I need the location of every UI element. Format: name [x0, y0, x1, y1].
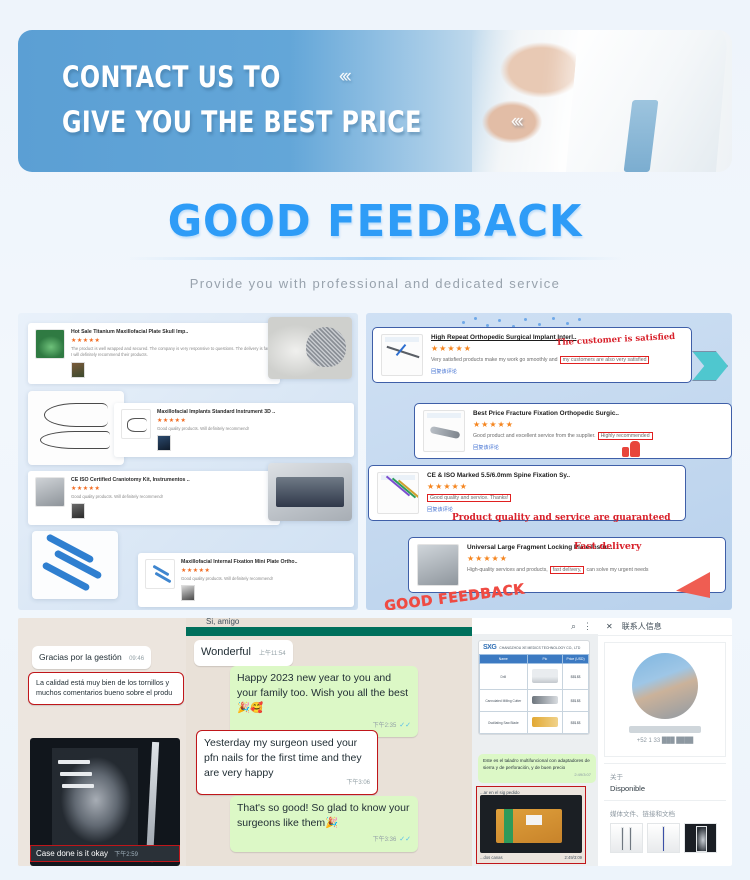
chat-message-text: Este es el taladro multifuncional con ad… [483, 758, 590, 770]
chevron-left-icon-2: ‹‹‹ [511, 111, 521, 133]
feedback-text: Very satisfied products make my work go … [431, 356, 683, 364]
product-image-cell [527, 664, 563, 690]
product-thumbnail [35, 329, 65, 359]
review-user-image[interactable] [71, 503, 85, 519]
product-image-cell [527, 712, 563, 734]
chat-message-time: 下午3:36 [373, 837, 397, 843]
catalog-table: Name Pic Price (USD) Drill $$$.$$ Cannul… [479, 654, 589, 734]
banner-line-2-text: GIVE YOU THE BEST PRICE [62, 105, 422, 139]
review-user-image[interactable] [71, 362, 85, 378]
product-name: Cannulated Milling Cutter [480, 690, 528, 712]
media-thumbnails [610, 823, 720, 853]
contact-media-section[interactable]: 媒体文件、链接和文档 [604, 800, 726, 860]
media-label: 媒体文件、链接和文档 [610, 808, 720, 818]
drill-icon [532, 669, 558, 683]
star-rating-icon: ★★★★★ [71, 337, 273, 344]
banner-line-2: GIVE YOU THE BEST PRICE ‹‹‹ [62, 105, 521, 139]
review-product-title: Maxillofacial Internal Fixation Mini Pla… [181, 559, 347, 565]
banner-text: CONTACT US TO ‹‹‹ GIVE YOU THE BEST PRIC… [62, 60, 521, 150]
chat-message-time: 09:46 [129, 656, 144, 662]
xray-caption-text: Case done is it okay [36, 849, 108, 858]
feedback-text-plain: High-quality services and products, [467, 567, 548, 573]
banner-line-1: CONTACT US TO ‹‹‹ [62, 60, 521, 94]
chevron-left-icon-1: ‹‹‹ [339, 66, 349, 88]
product-thumbnail [121, 409, 151, 439]
product-price: $$$.$$ [563, 712, 589, 734]
reply-link[interactable]: 回复该评论 [473, 444, 723, 451]
feedback-card[interactable]: Best Price Fracture Fixation Orthopedic … [414, 403, 732, 459]
star-rating-icon: ★★★★★ [473, 420, 723, 429]
screw-shape [62, 784, 94, 788]
annotation-quality-guaranteed: Product quality and service are guarante… [452, 513, 671, 523]
search-icon[interactable]: ⌕ [571, 621, 576, 632]
review-card[interactable]: Maxillofacial Internal Fixation Mini Pla… [138, 553, 354, 607]
review-user-image[interactable] [181, 585, 195, 601]
read-receipt-icon: ✓✓ [399, 836, 411, 843]
contact-phone: +52 1 33 ███ ████ [605, 738, 725, 744]
parcel-strap-shape [504, 809, 513, 843]
feedback-text: High-quality services and products, fast… [467, 566, 717, 574]
title-divider [125, 257, 625, 260]
page-title: GOOD FEEDBACK [19, 196, 732, 247]
chat-contact-name: Si, amigo [206, 618, 239, 626]
product-photo-forceps [28, 391, 124, 465]
product-name: Oscillating Saw Blade [480, 712, 528, 734]
screw-shape [60, 772, 92, 776]
feedback-highlight: Highly recommended [598, 432, 653, 440]
chat-pane-spanish: Gracias por la gestión 09:46 La calidad … [18, 618, 186, 866]
contact-info-header: ✕ 联系人信息 [598, 618, 732, 636]
thumbs-up-icon [622, 441, 640, 457]
parcel-label-shape [526, 815, 542, 825]
feedback-text-plain: Good product and excellent service from … [473, 433, 596, 439]
contact-name-redacted [629, 726, 701, 733]
catalog-toolbar: ⌕ ⋮ [472, 618, 598, 634]
parcel-photo [480, 795, 582, 853]
review-card[interactable]: CE ISO Certified Craniotomy Kit, Instrum… [28, 471, 280, 525]
media-thumbnail[interactable] [647, 823, 680, 853]
chat-message-time: 下午3:06 [346, 780, 370, 786]
product-thumbnail [423, 410, 465, 452]
annotation-fast-delivery: Fast delivery [574, 541, 641, 552]
chat-message-text: Wonderful [201, 646, 251, 658]
read-receipt-icon: ✓✓ [399, 722, 411, 729]
left-review-panel: Hot Sale Titanium Maxillofacial Plate Sk… [18, 313, 358, 610]
chat-pane-whatsapp: Si, amigo Wonderful 上午11:54 Happy 2023 n… [186, 618, 472, 866]
reply-link[interactable]: 回复该评论 [431, 368, 683, 375]
star-rating-icon: ★★★★★ [181, 567, 347, 574]
overflow-menu-icon[interactable]: ⋮ [583, 621, 592, 632]
feedback-product-title: CE & ISO Marked 5.5/6.0mm Spine Fixation… [427, 472, 677, 479]
whatsapp-header-bar [186, 627, 472, 636]
product-price: $$$.$$ [563, 664, 589, 690]
column-header: Name [480, 655, 528, 664]
star-rating-icon: ★★★★★ [467, 554, 717, 563]
product-image-cell [527, 690, 563, 712]
about-label: 关于 [610, 771, 720, 781]
reviews-section: Hot Sale Titanium Maxillofacial Plate Sk… [18, 313, 732, 610]
section-heading: GOOD FEEDBACK Provide you with professio… [0, 196, 750, 291]
chat-message-text: La calidad está muy bien de los tornillo… [36, 678, 172, 697]
product-price: $$$.$$ [563, 690, 589, 712]
product-photo-craniotomy-kit [268, 463, 352, 521]
column-header: Pic [527, 655, 563, 664]
feedback-highlight: my customers are also very satisfied [560, 356, 650, 364]
about-value: Disponible [610, 784, 720, 793]
feedback-text: Good quality and service. Thanks! [427, 494, 677, 502]
product-thumbnail [377, 472, 419, 514]
product-photo-skull-mesh [268, 317, 352, 379]
chat-message: Gracias por la gestión 09:46 [32, 646, 151, 669]
review-text: Good quality products. Will definitely r… [181, 576, 347, 582]
chat-pane-catalog: ⌕ ⋮ SXG CHANGZHOU XE MEDICS TECHNOLOGY C… [472, 618, 598, 866]
product-name: Drill [480, 664, 528, 690]
chat-message-text: Gracias por la gestión [39, 652, 122, 662]
brand-logo: SXG [483, 644, 496, 651]
chat-screenshots-section: Gracias por la gestión 09:46 La calidad … [18, 618, 732, 866]
product-thumbnail [381, 334, 423, 376]
chat-message: Este es el taladro multifuncional con ad… [478, 754, 596, 783]
chat-message: That's so good! So glad to know your sur… [230, 796, 418, 852]
contact-info-pane: ✕ 联系人信息 +52 1 33 ███ ████ 关于 Disponible … [598, 618, 732, 866]
feedback-highlight: fast delivery, [550, 566, 585, 574]
review-product-title: Hot Sale Titanium Maxillofacial Plate Sk… [71, 329, 273, 335]
review-card[interactable]: Maxillofacial Implants Standard Instrume… [114, 403, 354, 457]
chat-message: Yesterday my surgeon used your pfn nails… [196, 730, 378, 795]
close-icon[interactable]: ✕ [606, 622, 613, 631]
feedback-text-plain: Very satisfied products make my work go … [431, 357, 558, 363]
saw-blade-icon [532, 717, 558, 727]
feedback-text: Good product and excellent service from … [473, 432, 723, 440]
feedback-page: CONTACT US TO ‹‹‹ GIVE YOU THE BEST PRIC… [0, 0, 750, 880]
banner-line-1-text: CONTACT US TO [62, 60, 281, 94]
reply-link[interactable]: 回复该评论 [427, 506, 677, 513]
chat-message-text: That's so good! So glad to know your sur… [237, 802, 409, 829]
chat-message-time: 下午2:35 [373, 723, 397, 729]
star-rating-icon: ★★★★★ [71, 485, 273, 492]
product-photo-mini-plates [32, 531, 118, 599]
feedback-text-after: can solve my urgent needs [586, 567, 648, 573]
chat-message-time: 上午11:54 [259, 651, 286, 657]
product-thumbnail [145, 559, 175, 589]
milling-cutter-icon [532, 696, 558, 704]
catalog-brand: SXG CHANGZHOU XE MEDICS TECHNOLOGY CO., … [479, 641, 589, 654]
xray-caption: Case done is it okay 下午2:59 [30, 845, 180, 862]
table-row: Drill $$$.$$ [480, 664, 589, 690]
review-product-title: CE ISO Certified Craniotomy Kit, Instrum… [71, 477, 273, 483]
review-card[interactable]: Hot Sale Titanium Maxillofacial Plate Sk… [28, 323, 280, 384]
xray-caption-time: 下午2:59 [114, 852, 138, 858]
chat-message: Happy 2023 new year to you and your fami… [230, 666, 418, 737]
media-thumbnail[interactable] [610, 823, 643, 853]
review-text: Good quality products. Will definitely r… [157, 426, 347, 432]
star-rating-icon: ★★★★★ [427, 482, 677, 491]
teal-arrow-icon [692, 351, 728, 381]
feedback-card[interactable]: Universal Large Fragment Locking Plate I… [408, 537, 726, 593]
contact-about-section: 关于 Disponible [604, 763, 726, 800]
review-user-image[interactable] [157, 435, 171, 451]
chat-message: Wonderful 上午11:54 [194, 640, 293, 666]
contact-info-title: 联系人信息 [622, 621, 662, 632]
parcel-caption-bottom: ...dos canas [480, 855, 503, 860]
avatar[interactable] [632, 653, 698, 719]
review-text: The product is well wrapped and secured.… [71, 346, 273, 359]
feedback-highlight: Good quality and service. Thanks! [427, 494, 511, 502]
parcel-photo-message[interactable]: ...ar en el sig pedido ...dos canas 2:49… [476, 786, 586, 864]
review-product-title: Maxillofacial Implants Standard Instrume… [157, 409, 347, 415]
contact-profile-card: +52 1 33 ███ ████ [604, 642, 726, 757]
product-thumbnail [417, 544, 459, 586]
parcel-time: 2:49/3:09 [565, 855, 582, 860]
chat-message-text: Happy 2023 new year to you and your fami… [237, 672, 408, 714]
catalog-card[interactable]: SXG CHANGZHOU XE MEDICS TECHNOLOGY CO., … [478, 640, 590, 735]
table-row: Oscillating Saw Blade $$$.$$ [480, 712, 589, 734]
table-row: Cannulated Milling Cutter $$$.$$ [480, 690, 589, 712]
company-name: CHANGZHOU XE MEDICS TECHNOLOGY CO., LTD [499, 646, 580, 650]
column-header: Price (USD) [563, 655, 589, 664]
review-text: Good quality products. Will definitely r… [71, 494, 273, 500]
product-thumbnail [35, 477, 65, 507]
screw-shape [58, 760, 90, 764]
page-subtitle: Provide you with professional and dedica… [0, 276, 750, 291]
right-review-panel: High Repeat Orthopedic Surgical Implant … [366, 313, 732, 610]
chat-message-time: 2:49/3:07 [574, 772, 591, 777]
promo-banner: CONTACT US TO ‹‹‹ GIVE YOU THE BEST PRIC… [18, 30, 732, 172]
media-thumbnail[interactable] [684, 823, 717, 853]
table-header-row: Name Pic Price (USD) [480, 655, 589, 664]
feedback-product-title: Best Price Fracture Fixation Orthopedic … [473, 410, 723, 417]
star-rating-icon: ★★★★★ [157, 417, 347, 424]
chat-message: La calidad está muy bien de los tornillo… [28, 672, 184, 705]
